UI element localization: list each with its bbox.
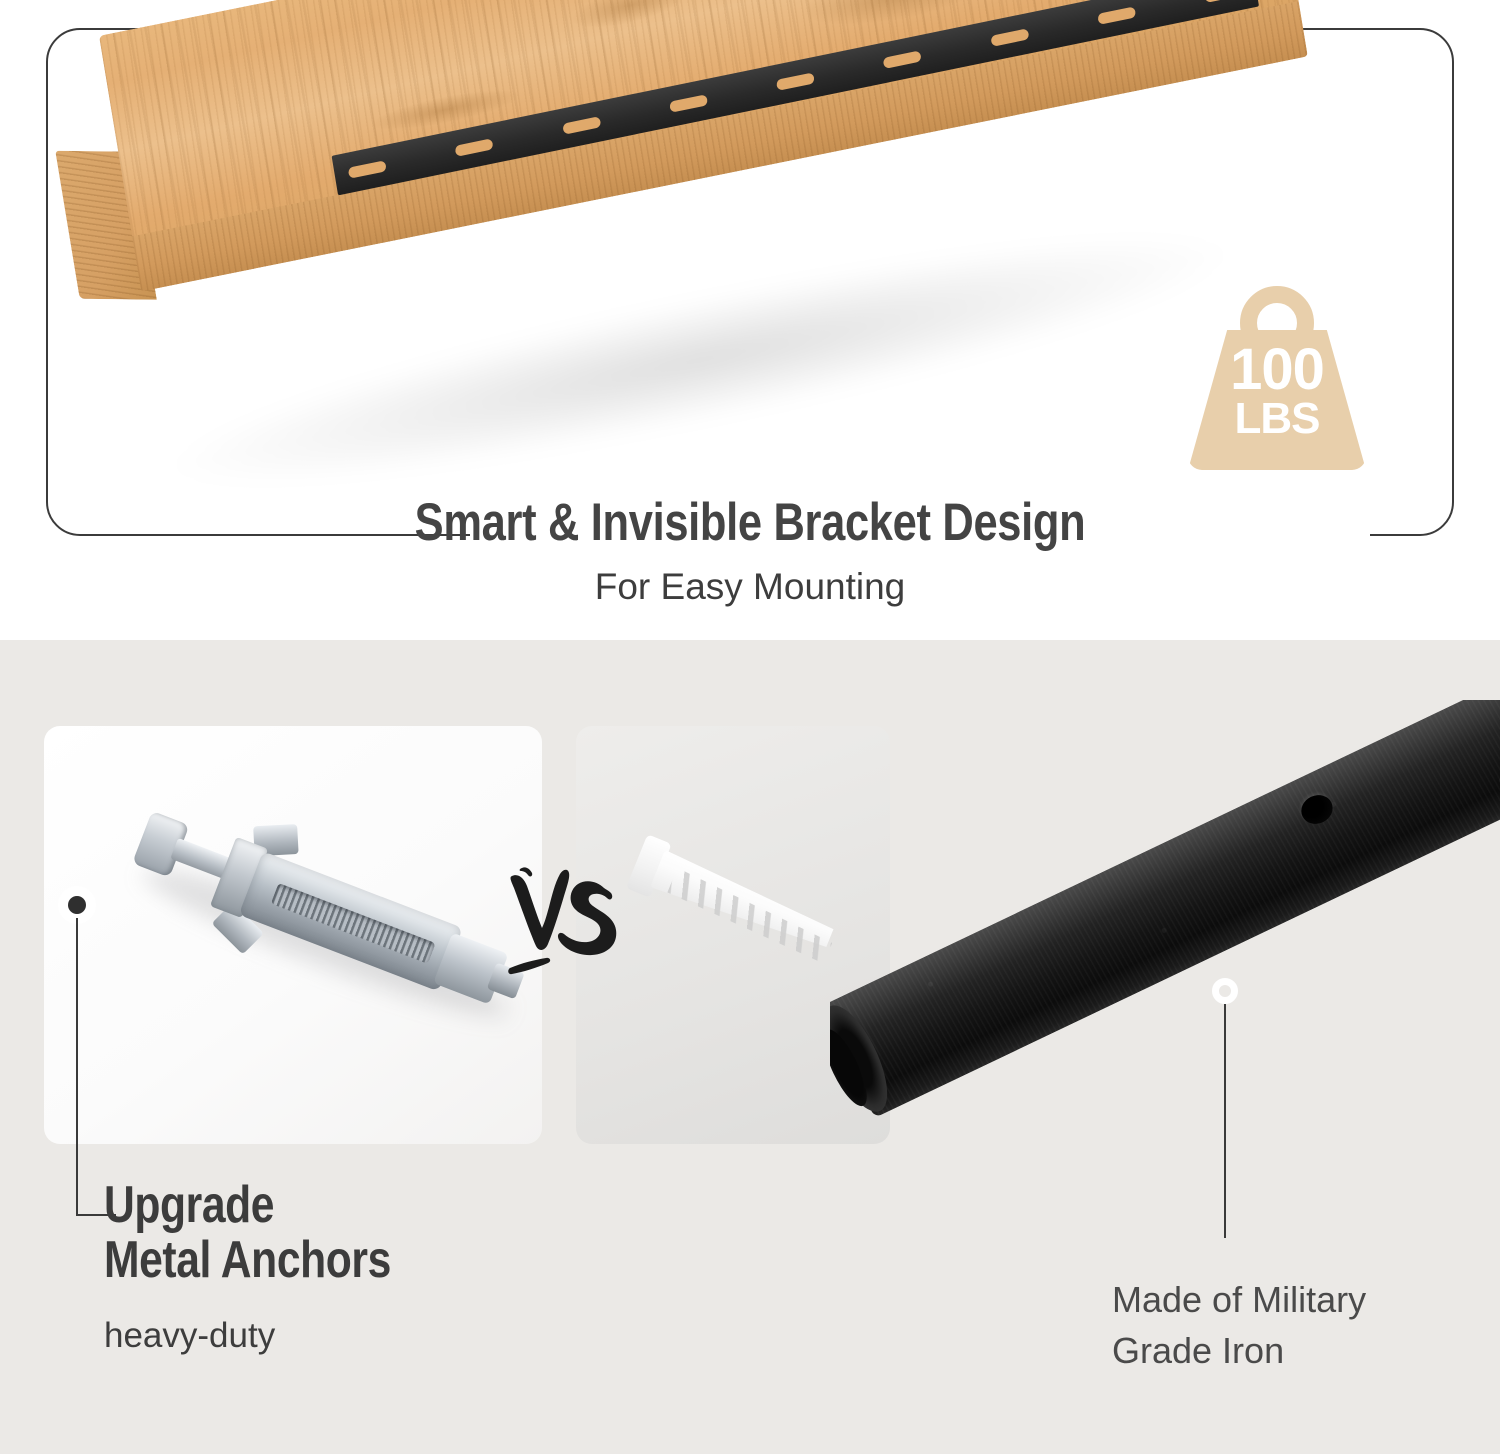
bracket-slot: [562, 116, 601, 135]
black-iron-pipe: [830, 700, 1500, 1118]
floating-shelf-image: [120, 0, 1360, 470]
metal-anchor-photo-panel: [44, 726, 542, 1144]
bracket-slot: [883, 50, 922, 69]
main-headline: Smart & Invisible Bracket Design: [135, 492, 1365, 553]
vs-icon: [508, 864, 618, 984]
metal-anchor-caption: Upgrade Metal Anchors heavy-duty: [104, 1178, 704, 1356]
caption-line-2: Metal Anchors: [104, 1233, 596, 1288]
caption-line-2: Grade Iron: [1112, 1325, 1492, 1376]
weight-number: 100: [1182, 342, 1372, 398]
caption-line-1: Made of Military: [1112, 1274, 1492, 1325]
caption-line-1: Upgrade: [104, 1178, 596, 1233]
callout-leader-line-vertical: [76, 918, 78, 1216]
weight-capacity-badge: 100 LBS: [1182, 286, 1372, 470]
metal-molly-bolt-anchor: [98, 785, 555, 1104]
bracket-slot: [1204, 0, 1243, 2]
callout-leader-line-pipe: [1224, 1004, 1226, 1238]
callout-ring-iron-pipe: [1212, 978, 1238, 1004]
bracket-slot: [348, 160, 387, 179]
top-feature-section: 100 LBS Smart & Invisible Bracket Design…: [0, 0, 1500, 640]
bracket-slot: [776, 72, 815, 91]
bracket-slot: [1097, 6, 1136, 25]
bracket-slot: [669, 94, 708, 113]
weight-unit: LBS: [1182, 398, 1372, 440]
bracket-slot: [990, 28, 1029, 47]
sub-headline: For Easy Mounting: [0, 566, 1500, 608]
wood-grain-knot: [569, 0, 693, 37]
iron-pipe-caption: Made of Military Grade Iron: [1112, 1274, 1492, 1376]
product-feature-image: 100 LBS Smart & Invisible Bracket Design…: [0, 0, 1500, 1454]
bracket-slot: [455, 138, 494, 157]
pipe-bore: [830, 1024, 875, 1111]
weight-badge-text: 100 LBS: [1182, 342, 1372, 440]
caption-note: heavy-duty: [104, 1316, 704, 1356]
iron-pipe-image: [830, 700, 1500, 1260]
pipe-texture: [830, 700, 1500, 1118]
